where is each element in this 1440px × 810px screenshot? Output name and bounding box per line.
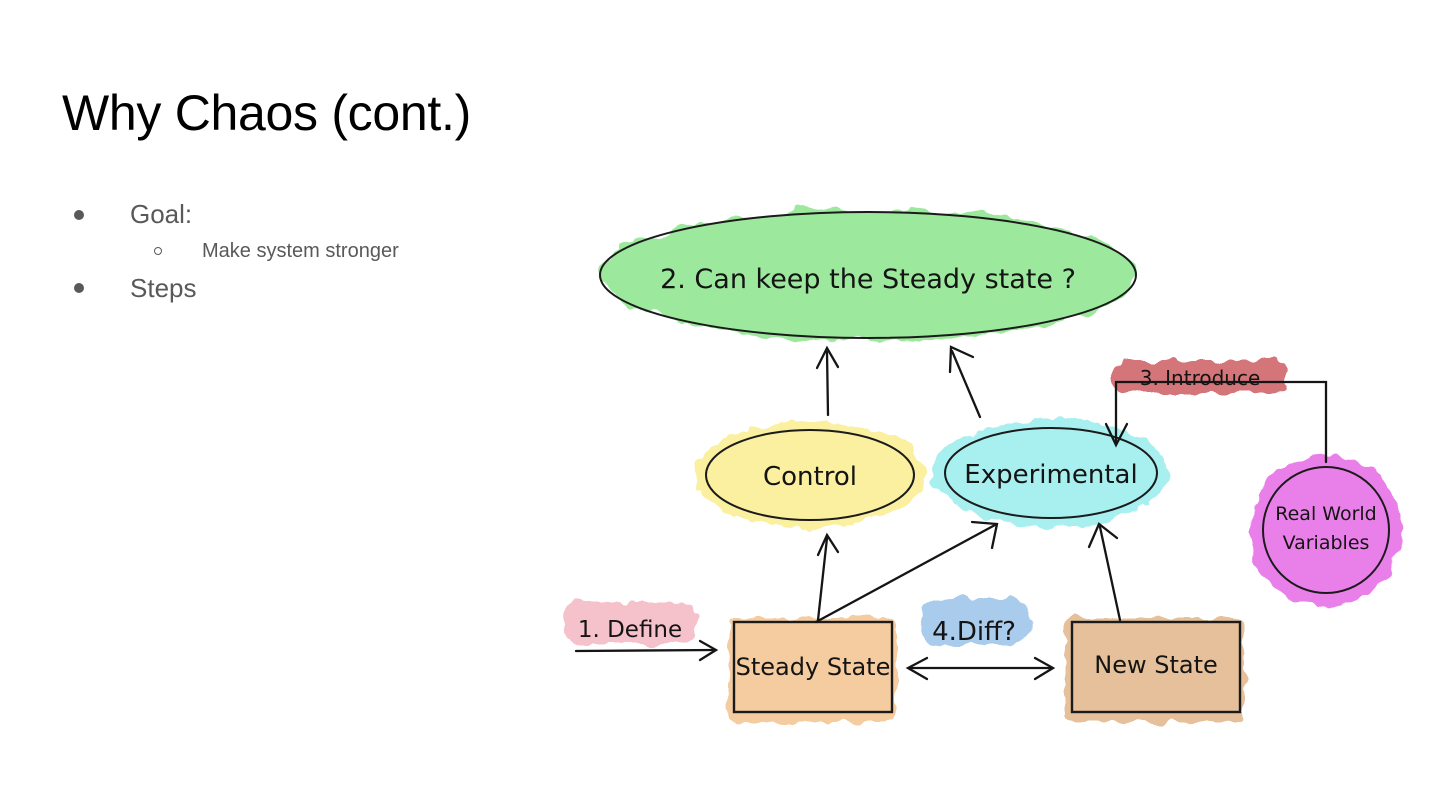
list-item: Make system stronger [62, 237, 492, 266]
page-title: Why Chaos (cont.) [62, 85, 471, 141]
diff-label: 4.Diff? [932, 617, 1016, 647]
node-experimental[interactable]: Experimental [933, 419, 1169, 527]
node-real-world-variables[interactable]: Real World Variables [1250, 454, 1402, 606]
control-label: Control [763, 462, 857, 492]
diagram-canvas: 2. Can keep the Steady state ? Control E… [500, 170, 1440, 770]
list-item-label: Goal: [130, 199, 192, 229]
introduce-label: 3. Introduce [1140, 366, 1261, 390]
bullet-marker-hollow [154, 247, 162, 255]
node-question[interactable]: 2. Can keep the Steady state ? [600, 209, 1136, 341]
annotation-introduce[interactable]: 3. Introduce [1112, 360, 1288, 394]
new-state-label: New State [1094, 651, 1218, 679]
real-world-variables-highlight [1250, 454, 1402, 606]
list-item-label: Make system stronger [202, 240, 399, 262]
real-world-variables-label-line1: Real World [1275, 503, 1376, 525]
annotation-define[interactable]: 1. Define [562, 602, 698, 644]
define-label: 1. Define [578, 617, 682, 643]
bullet-list: Goal: Make system stronger Steps [62, 196, 492, 311]
edge-new-state-to-experimental [1089, 524, 1120, 620]
node-steady-state[interactable]: Steady State [728, 618, 896, 722]
list-item: Steps [62, 270, 492, 307]
edge-control-to-question [817, 348, 838, 415]
node-new-state[interactable]: New State [1065, 618, 1245, 722]
question-label: 2. Can keep the Steady state ? [660, 264, 1076, 295]
edge-steady-state-to-control [818, 535, 838, 620]
list-item: Goal: [62, 196, 492, 233]
edge-experimental-to-question [950, 347, 980, 417]
list-item-label: Steps [130, 273, 197, 303]
node-control[interactable]: Control [694, 422, 926, 528]
annotation-diff[interactable]: 4.Diff? [920, 598, 1032, 647]
real-world-variables-label-line2: Variables [1283, 532, 1370, 554]
edge-steady-state-to-new-state [908, 658, 1053, 679]
bullet-marker-filled [74, 210, 84, 220]
experimental-label: Experimental [964, 460, 1137, 490]
steady-state-label: Steady State [736, 653, 891, 681]
bullet-marker-filled [74, 283, 84, 293]
